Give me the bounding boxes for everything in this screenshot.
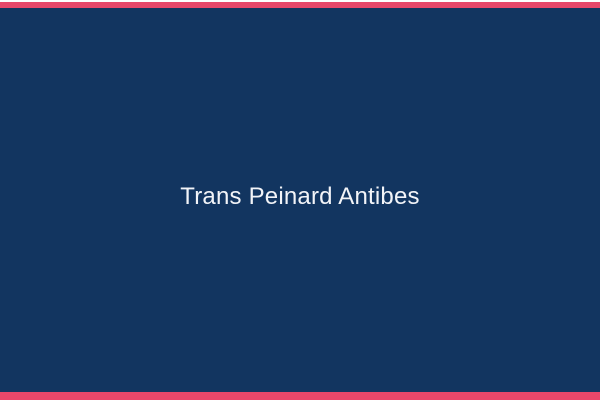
banner-body: Trans Peinard Antibes	[0, 8, 600, 392]
page-root: Trans Peinard Antibes	[0, 0, 600, 400]
bottom-accent-rule	[0, 392, 600, 400]
page-title: Trans Peinard Antibes	[180, 183, 419, 212]
title-banner: Trans Peinard Antibes	[0, 2, 600, 400]
